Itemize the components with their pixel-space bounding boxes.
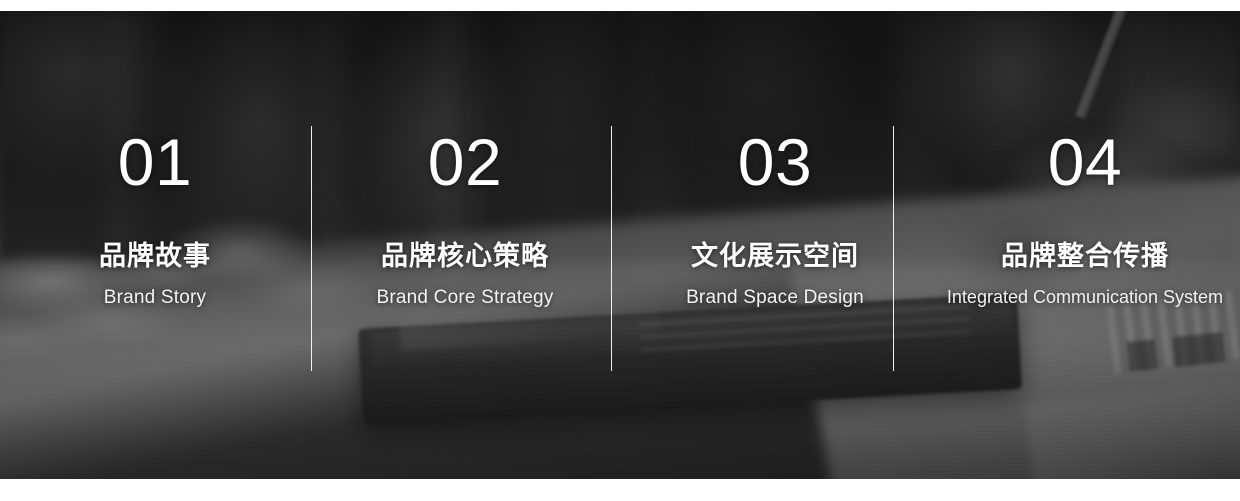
step-number: 02 bbox=[428, 129, 502, 195]
step-item-2[interactable]: 02 品牌核心策略 Brand Core Strategy bbox=[310, 11, 620, 479]
top-white-band bbox=[0, 0, 1240, 11]
step-title-en: Integrated Communication System bbox=[947, 288, 1223, 306]
step-number: 04 bbox=[1048, 129, 1122, 195]
step-item-3[interactable]: 03 文化展示空间 Brand Space Design bbox=[620, 11, 930, 479]
step-item-1[interactable]: 01 品牌故事 Brand Story bbox=[0, 11, 310, 479]
step-title-cn: 品牌整合传播 bbox=[1001, 243, 1169, 270]
bottom-white-band bbox=[0, 479, 1240, 501]
step-item-4[interactable]: 04 品牌整合传播 Integrated Communication Syste… bbox=[930, 11, 1240, 479]
steps-row: 01 品牌故事 Brand Story 02 品牌核心策略 Brand Core… bbox=[0, 11, 1240, 479]
step-divider-2 bbox=[611, 126, 612, 371]
step-title-cn: 文化展示空间 bbox=[691, 243, 859, 270]
step-number: 01 bbox=[118, 129, 192, 195]
step-title-cn: 品牌故事 bbox=[99, 243, 211, 270]
step-divider-3 bbox=[893, 126, 894, 371]
step-number: 03 bbox=[738, 129, 812, 195]
step-title-en: Brand Story bbox=[104, 288, 207, 307]
step-title-en: Brand Space Design bbox=[686, 288, 864, 307]
brand-steps-banner: 01 品牌故事 Brand Story 02 品牌核心策略 Brand Core… bbox=[0, 0, 1240, 501]
step-title-cn: 品牌核心策略 bbox=[381, 243, 549, 270]
step-title-en: Brand Core Strategy bbox=[377, 288, 554, 307]
step-divider-1 bbox=[311, 126, 312, 371]
